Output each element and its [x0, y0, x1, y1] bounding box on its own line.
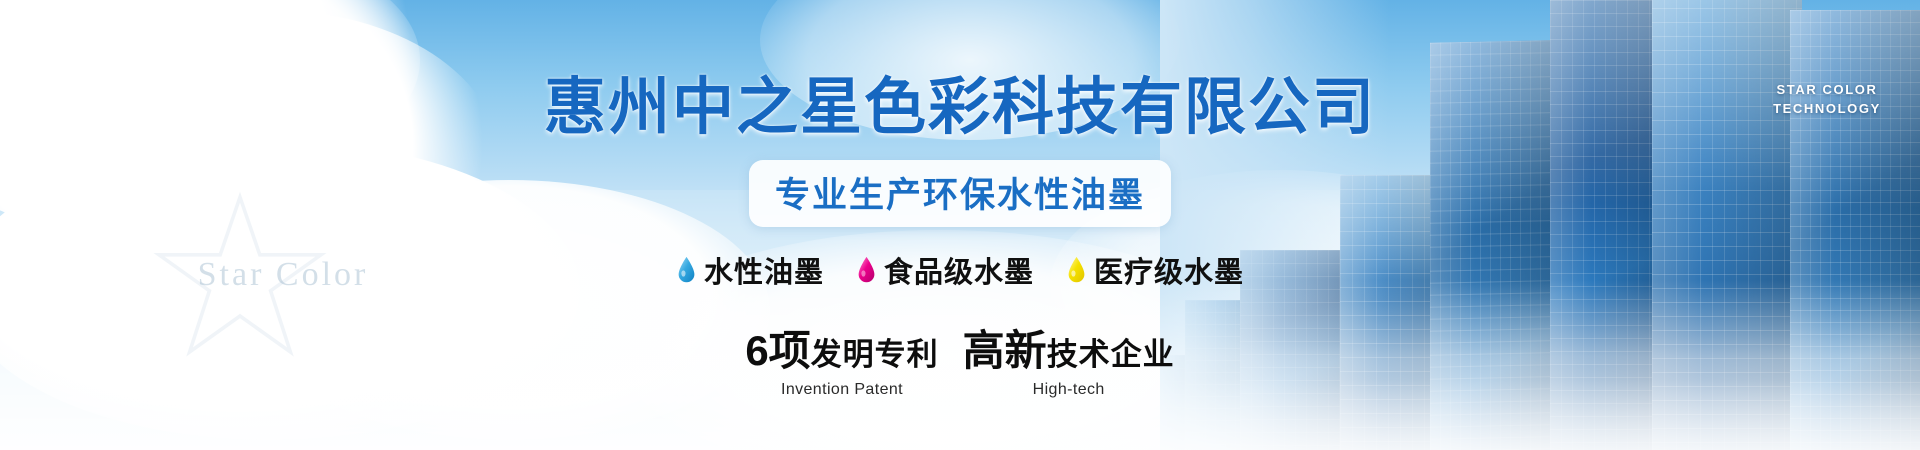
badge-high-tech: 高新 技术企业 High-tech: [963, 317, 1175, 399]
badge-rest-text: 发明专利: [811, 329, 939, 374]
badge-strong-text: 6项: [745, 317, 810, 378]
badge-invention-patent: 6项 发明专利 Invention Patent: [745, 317, 938, 399]
page-title: 惠州中之星色彩科技有限公司: [544, 56, 1376, 146]
badge-strong-text: 高新: [963, 317, 1047, 378]
badge-rest-text: 技术企业: [1047, 329, 1175, 374]
water-drop-icon: [1066, 256, 1087, 284]
feature-item: 水性油墨: [676, 249, 824, 291]
badge-english-text: Invention Patent: [781, 381, 903, 399]
promo-banner: STAR COLOR TECHNOLOGY Star Color 惠州中之星色彩…: [0, 0, 1920, 450]
badge-english-text: High-tech: [1033, 381, 1105, 399]
feature-item: 医疗级水墨: [1066, 249, 1244, 291]
badge-list: 6项 发明专利 Invention Patent 高新 技术企业 High-te…: [745, 317, 1174, 399]
badge-main-text: 高新 技术企业: [963, 317, 1175, 378]
feature-list: 水性油墨 食品级水墨: [676, 249, 1244, 291]
feature-label: 医疗级水墨: [1094, 249, 1244, 291]
water-drop-icon: [856, 256, 877, 284]
feature-item: 食品级水墨: [856, 249, 1034, 291]
feature-label: 水性油墨: [704, 249, 824, 291]
water-drop-icon: [676, 256, 697, 284]
feature-label: 食品级水墨: [884, 249, 1034, 291]
badge-main-text: 6项 发明专利: [745, 317, 938, 378]
banner-content: 惠州中之星色彩科技有限公司 专业生产环保水性油墨 水性油墨: [0, 0, 1920, 450]
subtitle-pill: 专业生产环保水性油墨: [749, 160, 1171, 227]
